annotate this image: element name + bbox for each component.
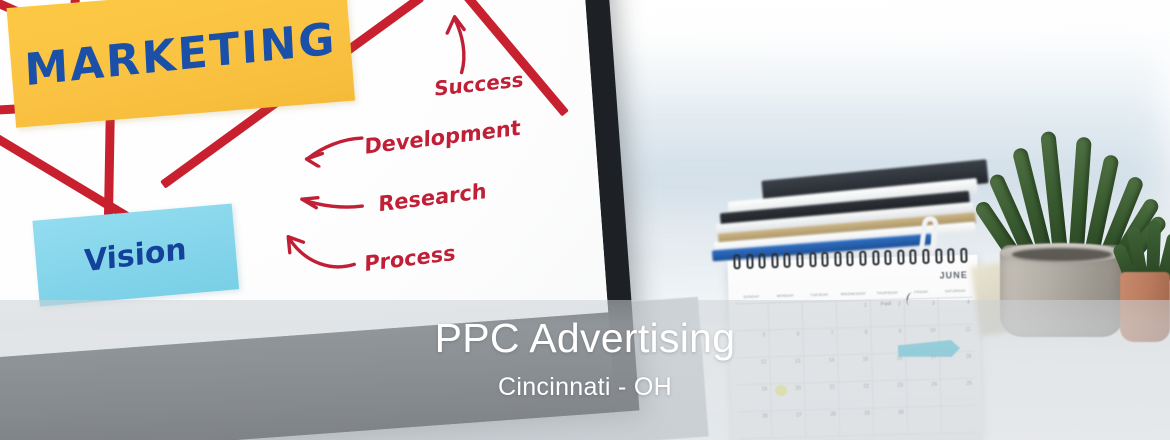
calendar-ring <box>897 250 904 265</box>
calendar-day-cell: 29 <box>840 409 875 437</box>
calendar-ring <box>960 248 967 263</box>
calendar-day-cell <box>942 406 977 434</box>
calendar-handwritten-note: Paid <box>880 301 891 308</box>
sticky-note-marketing-label: MARKETING <box>24 13 338 96</box>
arrow-upleft-process-icon <box>281 228 356 275</box>
calendar-ring <box>859 251 866 266</box>
page-title: PPC Advertising <box>0 316 1170 360</box>
monitor-screen: MARKETING Goals Vision <box>0 0 608 367</box>
calendar-ring <box>884 250 891 265</box>
calendar-ring <box>847 251 854 266</box>
location-subtitle: Cincinnati - OH <box>0 373 1170 402</box>
arrow-left-research-icon <box>298 186 365 218</box>
calendar-ring <box>821 252 828 267</box>
calendar-day-number: 2 <box>898 302 901 308</box>
calendar-ring <box>872 250 879 265</box>
calendar-day-cell <box>908 407 943 435</box>
calendar-day-number: 29 <box>864 411 870 417</box>
calendar-ring <box>834 251 841 266</box>
calendar-day-number: 30 <box>898 410 904 416</box>
calendar-day-number: 3 <box>932 301 935 307</box>
sticky-note-marketing: MARKETING <box>7 0 356 128</box>
calendar-ring <box>771 253 778 268</box>
sticky-note-vision: Vision <box>32 203 239 306</box>
handwriting-development: Development <box>364 116 521 159</box>
calendar-ring <box>733 254 740 269</box>
calendar-weekday-header: SUNDAY <box>734 290 768 304</box>
calendar-day-cell: 30 <box>874 408 909 436</box>
calendar-day-cell: 28 <box>806 409 841 437</box>
sticky-note-vision-label: Vision <box>84 231 188 279</box>
calendar-day-number: 27 <box>796 413 802 419</box>
calendar-month-label: JUNE <box>939 270 968 281</box>
calendar-day-cell: 26 <box>738 411 773 439</box>
calendar-day-number: 28 <box>830 412 836 418</box>
whiteboard-mindmap: MARKETING Goals Vision <box>0 0 608 367</box>
plant-pot-soil <box>1012 248 1112 261</box>
calendar-ring <box>809 252 816 267</box>
calendar-ring <box>746 254 753 269</box>
calendar-ring <box>784 253 791 268</box>
ppc-advertising-banner: JUNE SUNDAYMONDAYTUESDAYWEDNESDAYTHURSDA… <box>0 0 1170 440</box>
calendar-day-number: 4 <box>967 300 970 306</box>
calendar-weekday-header: TUESDAY <box>802 288 836 302</box>
calendar-ring <box>796 252 803 267</box>
calendar-ring <box>935 249 942 264</box>
arrow-left-development-icon <box>302 134 365 168</box>
calendar-weekday-header: SATURDAY <box>938 285 972 299</box>
calendar-weekday-header: WEDNESDAY <box>836 288 870 302</box>
calendar-weekday-header: THURSDAY <box>870 287 904 301</box>
calendar-ring <box>758 253 765 268</box>
calendar-day-number: 1 <box>864 303 867 309</box>
calendar-day-number: 26 <box>762 413 768 419</box>
calendar-day-cell: 27 <box>772 410 807 438</box>
calendar-ring <box>922 249 929 264</box>
handwriting-process: Process <box>364 241 456 276</box>
handwriting-research: Research <box>378 179 487 217</box>
arrow-up-icon <box>436 12 478 75</box>
calendar-weekday-header: MONDAY <box>768 289 802 303</box>
banner-text-block: PPC Advertising Cincinnati - OH <box>0 316 1170 402</box>
calendar-ring <box>910 249 917 264</box>
calendar-ring <box>947 248 954 263</box>
